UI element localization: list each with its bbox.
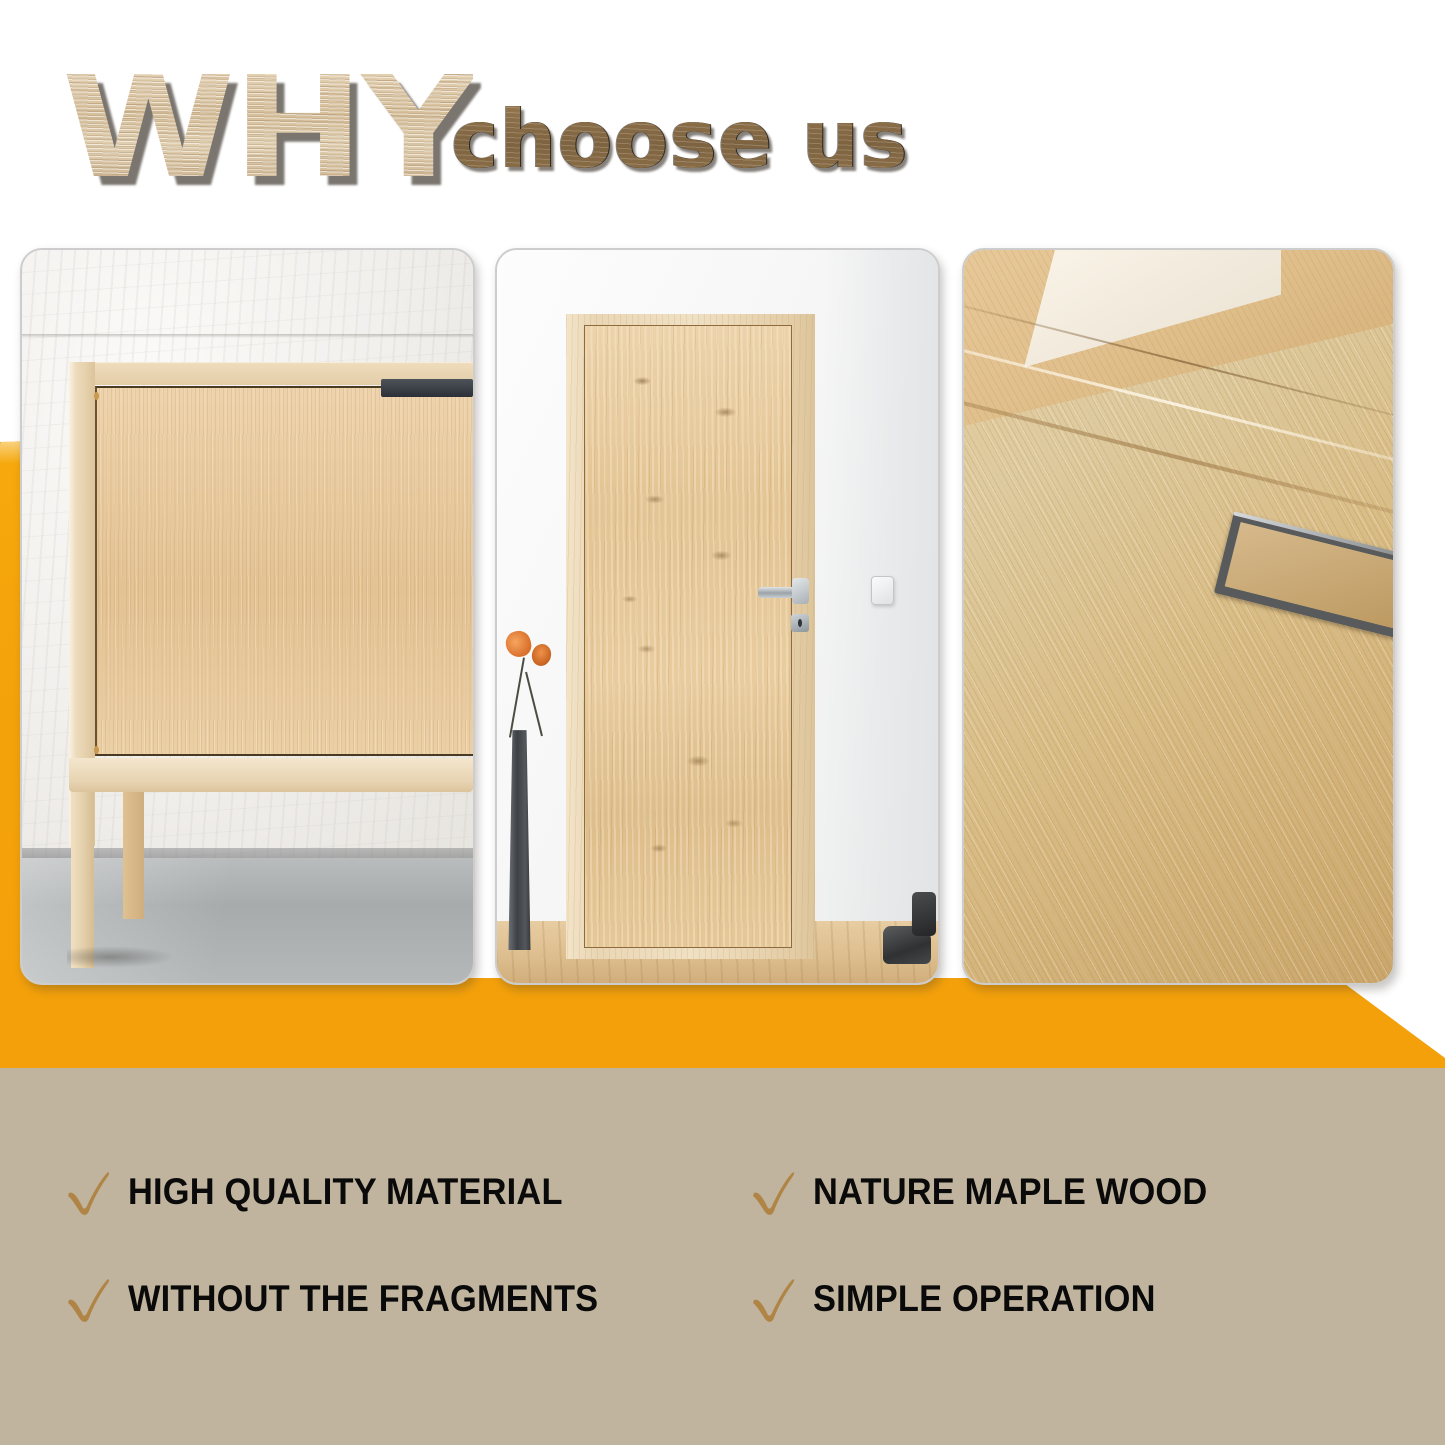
feature-label: SIMPLE OPERATION bbox=[813, 1278, 1156, 1320]
photo-card-drawer-edge-closeup[interactable] bbox=[962, 248, 1395, 985]
light-switch bbox=[871, 576, 893, 605]
feature-item-high-quality-material: HIGH QUALITY MATERIAL bbox=[66, 1138, 721, 1246]
page-title-secondary: choose us bbox=[451, 100, 909, 180]
features-grid: HIGH QUALITY MATERIAL NATURE MAPLE WOOD … bbox=[0, 1068, 1445, 1445]
promo-banner: WHY choose us HIGH QUALITY MATERIAL NATU… bbox=[0, 0, 1445, 1445]
feature-label: WITHOUT THE FRAGMENTS bbox=[128, 1278, 598, 1320]
photo-maple-interior-door bbox=[497, 250, 938, 983]
feature-item-nature-maple-wood: NATURE MAPLE WOOD bbox=[751, 1138, 1406, 1246]
photo-card-maple-interior-door[interactable] bbox=[495, 248, 940, 985]
feature-item-simple-operation: SIMPLE OPERATION bbox=[751, 1246, 1406, 1354]
photo-card-wooden-sideboard-cabinet[interactable] bbox=[20, 248, 475, 985]
features-panel: HIGH QUALITY MATERIAL NATURE MAPLE WOOD … bbox=[0, 1068, 1445, 1445]
check-icon bbox=[751, 1166, 797, 1218]
feature-item-without-the-fragments: WITHOUT THE FRAGMENTS bbox=[66, 1246, 721, 1354]
photo-drawer-edge-closeup bbox=[964, 250, 1393, 983]
check-icon bbox=[66, 1166, 112, 1218]
feature-label: HIGH QUALITY MATERIAL bbox=[128, 1171, 563, 1213]
photo-wooden-sideboard-cabinet bbox=[22, 250, 473, 983]
page-title-primary: WHY bbox=[62, 70, 473, 188]
check-icon bbox=[751, 1273, 797, 1325]
feature-label: NATURE MAPLE WOOD bbox=[813, 1171, 1207, 1213]
check-icon bbox=[66, 1273, 112, 1325]
header: WHY choose us bbox=[0, 0, 1445, 230]
